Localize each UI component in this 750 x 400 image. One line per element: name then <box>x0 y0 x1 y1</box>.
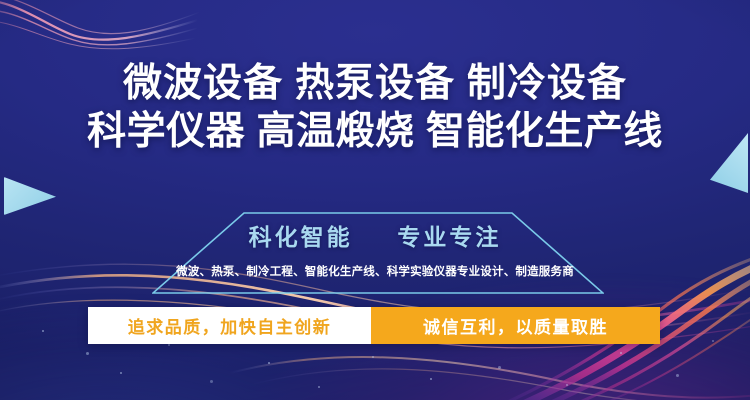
headline-line-2: 科学仪器 高温煅烧 智能化生产线 <box>0 108 750 156</box>
slogan-left: 科化智能 <box>249 224 353 250</box>
bottom-bar-right-panel: 诚信互利，以质量取胜 <box>371 307 660 344</box>
subtitle: 微波、热泵、制冷工程、智能化生产线、科学实验仪器专业设计、制造服务商 <box>0 264 750 280</box>
promotional-banner: 微波设备 热泵设备 制冷设备 科学仪器 高温煅烧 智能化生产线 科化智能 专业专… <box>0 0 750 400</box>
page-title: 微波设备 热泵设备 制冷设备 科学仪器 高温煅烧 智能化生产线 <box>0 60 750 156</box>
slogan-right: 专业专注 <box>397 224 501 250</box>
headline-line-1: 微波设备 热泵设备 制冷设备 <box>0 60 750 108</box>
bottom-slogan-bar: 追求品质，加快自主创新 诚信互利，以质量取胜 <box>88 307 660 344</box>
bottom-bar-left-panel: 追求品质，加快自主创新 <box>88 307 371 344</box>
slogan: 科化智能 专业专注 <box>0 222 750 252</box>
